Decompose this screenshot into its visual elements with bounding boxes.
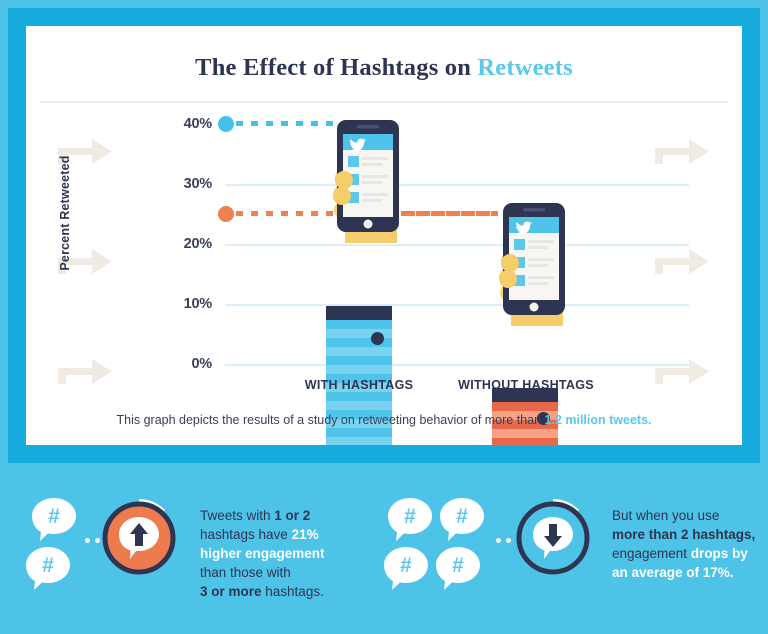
gridline-0 (225, 364, 689, 366)
y-axis-label: Percent Retweeted (58, 138, 72, 288)
caption-text: This graph depicts the results of a stud… (117, 413, 545, 427)
chart-caption: This graph depicts the results of a stud… (26, 413, 742, 427)
left-line2-b: 21% (292, 527, 319, 542)
svg-text:#: # (48, 505, 60, 528)
y-tick-30: 30% (166, 176, 212, 192)
hashtag-bubble-icon: # (384, 495, 436, 547)
connector-dot (506, 538, 511, 543)
connector-dots-right (496, 538, 511, 543)
hashtag-bubble-icon: # (22, 544, 74, 596)
left-line5-b: hashtags. (262, 584, 324, 599)
connector-dot (85, 538, 90, 543)
y-tick-40: 40% (166, 116, 212, 132)
hand-phone-illustration (477, 201, 573, 326)
hashtag-bubble-icon: # (28, 495, 80, 547)
chart-card-frame: The Effect of Hashtags on Retweets (8, 8, 760, 463)
svg-text:#: # (456, 505, 468, 528)
engagement-down-badge (512, 495, 594, 577)
stat-text-right: But when you use more than 2 hashtags, e… (612, 506, 762, 582)
left-line1-a: Tweets with (200, 508, 274, 523)
stat-block-left: # # Tweets with 1 o (0, 470, 384, 634)
hand-phone-illustration (311, 118, 407, 243)
gridline-20 (225, 244, 689, 246)
hashtag-bubble-icon: # (432, 544, 484, 596)
left-line1-b: 1 or 2 (274, 508, 310, 523)
sleeve-cuff (326, 306, 392, 320)
stat-text-left: Tweets with 1 or 2 hashtags have 21% hig… (200, 506, 350, 601)
left-line2-a: hashtags have (200, 527, 292, 542)
left-line4: than those with (200, 565, 291, 580)
hashtag-bubble-icon: # (380, 544, 432, 596)
infographic-page: The Effect of Hashtags on Retweets (0, 0, 768, 634)
right-line1: But when you use (612, 508, 719, 523)
svg-text:#: # (404, 505, 416, 528)
marker-leader-orange-2 (408, 211, 490, 216)
stat-block-right: # # # # (384, 470, 768, 634)
marker-dot-orange (218, 206, 234, 222)
marker-dot-blue (218, 116, 234, 132)
svg-text:#: # (42, 554, 54, 577)
left-line5-a: 3 or more (200, 584, 262, 599)
x-label-without-hashtags: WITHOUT HASHTAGS (451, 378, 601, 392)
bar-chart: Percent Retweeted 40% 30% 20% 10% 0% (26, 26, 742, 445)
chart-card: The Effect of Hashtags on Retweets (26, 26, 742, 445)
caption-highlight: 1.2 million tweets. (545, 413, 652, 427)
hashtag-bubble-icon: # (436, 495, 488, 547)
y-tick-0: 0% (166, 356, 212, 372)
right-line2: more than 2 hashtags, (612, 527, 755, 542)
bottom-section: # # Tweets with 1 o (0, 470, 768, 634)
x-label-with-hashtags: WITH HASHTAGS (291, 378, 427, 392)
right-line4: an average of 17%. (612, 565, 734, 580)
svg-text:#: # (400, 554, 412, 577)
gridline-30 (225, 184, 689, 186)
sleeve-button (371, 332, 384, 345)
svg-text:#: # (452, 554, 464, 577)
y-tick-20: 20% (166, 236, 212, 252)
gridline-10 (225, 304, 689, 306)
engagement-up-badge (98, 495, 180, 577)
left-line3: higher engagement (200, 546, 325, 561)
connector-dot (496, 538, 501, 543)
y-tick-10: 10% (166, 296, 212, 312)
right-line3-a: engagement (612, 546, 691, 561)
right-line3-b: drops by (691, 546, 748, 561)
